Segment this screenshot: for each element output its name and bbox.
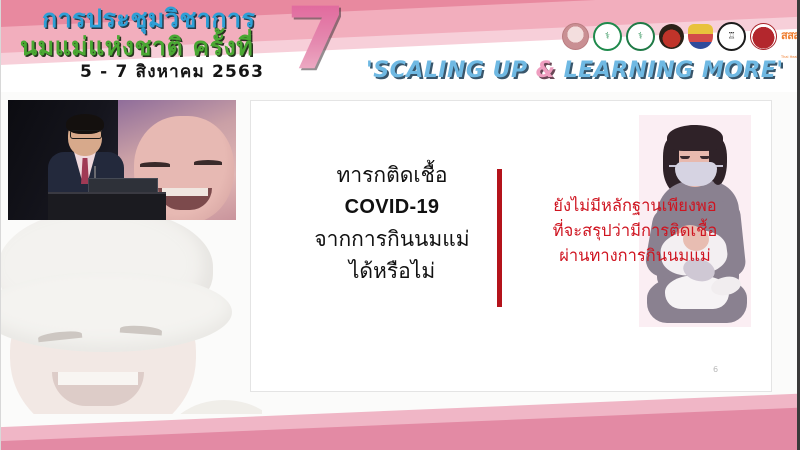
conference-header-banner: การประชุมวิชาการ นมแม่แห่งชาติ ครั้งที่ … — [0, 0, 800, 92]
question-text-block: ทารกติดเชื้อ COVID-19 จากการกินนมแม่ ได้… — [297, 159, 487, 288]
slide-number: 6 — [713, 365, 718, 374]
video-speaker-glasses-icon — [70, 130, 102, 139]
logo-department-health: ⚕ — [626, 22, 655, 51]
illus-hair-fringe — [667, 125, 723, 151]
answer-text-block: ยังไม่มีหลักฐานเพียงพอ ที่จะสรุปว่ามีการ… — [509, 193, 761, 268]
conference-title-line2: นมแม่แห่งชาติ ครั้งที่ — [20, 34, 253, 59]
video-podium — [48, 192, 166, 220]
tagline-ampersand: & — [536, 58, 556, 83]
logo-glyph: ⚕ — [605, 32, 610, 41]
logo-royal-emblem-red — [659, 24, 684, 49]
answer-line-2: ที่จะสรุปว่ามีการติดเชื้อ — [509, 218, 761, 243]
question-line-3: จากการกินนมแม่ — [297, 223, 487, 256]
question-line-4: ได้หรือไม่ — [297, 255, 487, 288]
question-line-2-covid: COVID-19 — [297, 192, 487, 223]
logo-glyph: ⚕ — [638, 32, 643, 41]
slide-content-card: ทารกติดเชื้อ COVID-19 จากการกินนมแม่ ได้… — [250, 100, 772, 392]
conference-date: 5 - 7 สิงหาคม 2563 — [80, 64, 264, 81]
sponsor-logo-row: ⚕ ⚕ ♖ สสส Thai Health — [562, 22, 800, 51]
video-baby-eye-right — [194, 160, 222, 165]
logo-medical-council-red — [750, 23, 777, 50]
watermark-teeth — [58, 372, 138, 385]
speaker-presentation-video[interactable] — [8, 100, 236, 220]
logo-royal-crest — [688, 24, 713, 49]
logo-glyph: ♖ — [727, 32, 735, 41]
video-baby-eye-left — [140, 162, 170, 167]
answer-line-3: ผ่านทางการกินนมแม่ — [509, 243, 761, 268]
logo-ministry-public-health-green: ⚕ — [593, 22, 622, 51]
video-baby-teeth — [162, 188, 208, 196]
conference-tagline: 'SCALING UP & LEARNING MORE' — [366, 60, 784, 82]
presentation-slide: ทารกติดเชื้อ COVID-19 จากการกินนมแม่ ได้… — [0, 0, 800, 450]
watermark-hat-brim — [0, 272, 232, 352]
question-line-1: ทารกติดเชื้อ — [297, 159, 487, 192]
answer-line-1: ยังไม่มีหลักฐานเพียงพอ — [509, 193, 761, 218]
illus-eye-left — [680, 156, 690, 159]
tagline-suffix: LEARNING MORE' — [555, 58, 783, 83]
logo-university-black: ♖ — [717, 22, 746, 51]
logo-breastfeeding-foundation — [562, 23, 589, 50]
red-vertical-divider — [497, 169, 502, 307]
tagline-prefix: 'SCALING UP — [366, 58, 536, 83]
conference-title-line1: การประชุมวิชาการ — [42, 6, 255, 31]
illus-eye-right — [700, 156, 710, 159]
frame-left-edge — [0, 0, 1, 450]
smiling-child-with-hat-watermark — [0, 214, 262, 414]
conference-edition-number: 7 — [286, 0, 346, 82]
